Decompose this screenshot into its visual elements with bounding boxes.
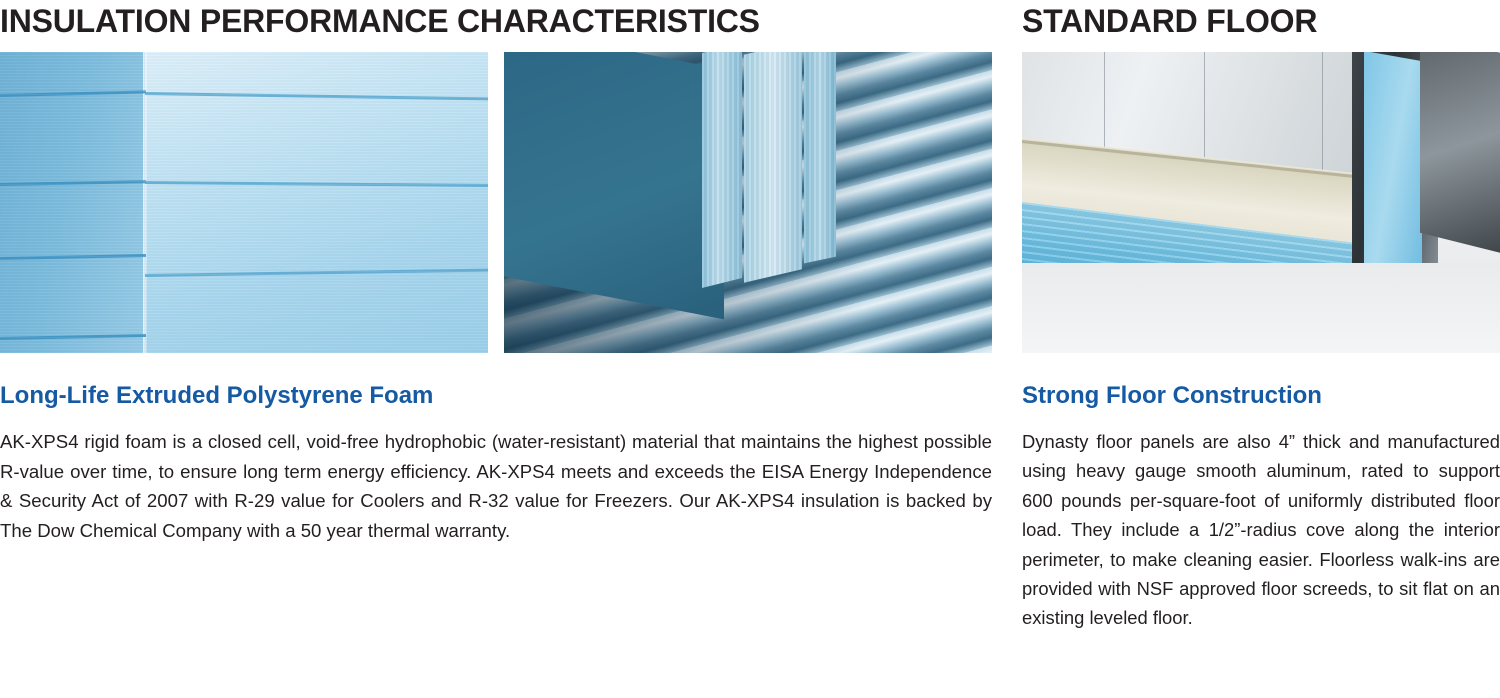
standard-floor-body-copy: Dynasty floor panels are also 4” thick a… <box>1022 427 1500 633</box>
room-floor-surface <box>1022 263 1500 353</box>
page-title-insulation: INSULATION PERFORMANCE CHARACTERISTICS <box>0 0 992 38</box>
foam-board-edge-3 <box>804 52 836 263</box>
insulation-photo-strip <box>0 52 992 353</box>
foam-board-edge-1 <box>702 52 742 288</box>
insulation-text-block: Long-Life Extruded Polystyrene Foam AK-X… <box>0 382 992 545</box>
foam-edge-texture <box>702 52 742 288</box>
adjacent-wall-panel <box>1420 52 1500 255</box>
standard-floor-section: STANDARD FLOOR Strong Floor Construction… <box>1022 0 1500 698</box>
subheading-long-life-foam: Long-Life Extruded Polystyrene Foam <box>0 382 992 410</box>
insulation-performance-section: INSULATION PERFORMANCE CHARACTERISTICS <box>0 0 992 698</box>
corner-panel-foam-core <box>1364 52 1422 279</box>
walk-in-floor-panel-cutaway-image <box>1022 52 1500 353</box>
subheading-strong-floor: Strong Floor Construction <box>1022 382 1500 410</box>
foam-board-on-metal-deck-image <box>504 52 992 353</box>
foam-left-face <box>0 52 145 353</box>
standard-floor-text-block: Strong Floor Construction Dynasty floor … <box>1022 382 1500 633</box>
foam-board-edge-2 <box>744 52 802 283</box>
foam-corner-edge <box>143 52 147 353</box>
foam-edge-texture <box>744 52 802 283</box>
foam-board-top-face <box>504 52 724 319</box>
foam-edge-texture <box>804 52 836 263</box>
xps-foam-board-stack-image <box>0 52 488 353</box>
insulation-body-copy: AK-XPS4 rigid foam is a closed cell, voi… <box>0 427 992 545</box>
page: INSULATION PERFORMANCE CHARACTERISTICS <box>0 0 1500 698</box>
page-title-standard-floor: STANDARD FLOOR <box>1022 0 1500 38</box>
